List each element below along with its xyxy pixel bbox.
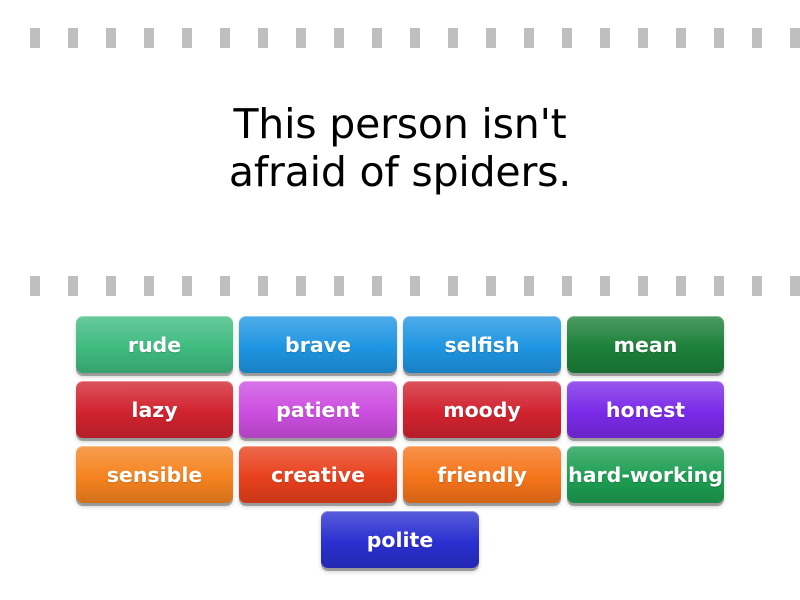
divider-dash xyxy=(30,276,40,296)
divider-dash xyxy=(448,28,458,48)
divider-dash xyxy=(410,28,420,48)
answer-tile-label: hard-working xyxy=(568,463,723,487)
divider-dash xyxy=(372,28,382,48)
divider-dash xyxy=(410,276,420,296)
divider-dash xyxy=(714,276,724,296)
answer-tile-label: lazy xyxy=(131,398,177,422)
divider-dash xyxy=(296,276,306,296)
answer-tile-polite[interactable]: polite xyxy=(321,511,479,568)
divider-dash xyxy=(562,276,572,296)
answer-tile-selfish[interactable]: selfish xyxy=(403,316,561,373)
divider-dash xyxy=(182,28,192,48)
answer-tile-label: selfish xyxy=(444,333,519,357)
divider-dash xyxy=(296,28,306,48)
answer-tile-mean[interactable]: mean xyxy=(567,316,724,373)
divider-dash xyxy=(258,28,268,48)
answer-tile-friendly[interactable]: friendly xyxy=(403,446,561,503)
divider-dash xyxy=(334,28,344,48)
divider-dash xyxy=(638,28,648,48)
answer-tile-label: brave xyxy=(285,333,351,357)
divider-dash xyxy=(106,28,116,48)
divider-dash xyxy=(30,28,40,48)
answer-tile-patient[interactable]: patient xyxy=(239,381,397,438)
divider-dash xyxy=(600,276,610,296)
divider-dash xyxy=(372,276,382,296)
answer-tile-sensible[interactable]: sensible xyxy=(76,446,233,503)
divider-dash xyxy=(144,28,154,48)
divider-dash xyxy=(676,28,686,48)
answer-tile-creative[interactable]: creative xyxy=(239,446,397,503)
divider-dash xyxy=(68,28,78,48)
answer-tile-lazy[interactable]: lazy xyxy=(76,381,233,438)
divider-dash xyxy=(524,276,534,296)
tile-row: polite xyxy=(76,511,724,568)
divider-dash xyxy=(752,276,762,296)
tile-row: rudebraveselfishmean xyxy=(76,316,724,373)
answer-tile-label: moody xyxy=(443,398,521,422)
answer-tile-label: creative xyxy=(271,463,365,487)
answer-tile-brave[interactable]: brave xyxy=(239,316,397,373)
prompt-container: This person isn't afraid of spiders. xyxy=(0,100,800,196)
answer-tile-hard-working[interactable]: hard-working xyxy=(567,446,724,503)
top-dashed-divider xyxy=(0,28,800,48)
divider-dash xyxy=(562,28,572,48)
answer-tile-honest[interactable]: honest xyxy=(567,381,724,438)
prompt-text: This person isn't afraid of spiders. xyxy=(0,100,800,196)
divider-dash xyxy=(144,276,154,296)
divider-dash xyxy=(714,28,724,48)
divider-dash xyxy=(182,276,192,296)
answer-tile-label: mean xyxy=(614,333,678,357)
quiz-board: This person isn't afraid of spiders. rud… xyxy=(0,0,800,600)
answer-tile-label: friendly xyxy=(437,463,527,487)
divider-dash xyxy=(220,276,230,296)
divider-dash xyxy=(258,276,268,296)
divider-dash xyxy=(524,28,534,48)
divider-dash xyxy=(106,276,116,296)
divider-dash xyxy=(486,276,496,296)
divider-dash xyxy=(676,276,686,296)
answer-tile-label: patient xyxy=(276,398,360,422)
answer-tile-grid: rudebraveselfishmeanlazypatientmoodyhone… xyxy=(76,316,724,568)
tile-row: sensiblecreativefriendlyhard-working xyxy=(76,446,724,503)
answer-tile-rude[interactable]: rude xyxy=(76,316,233,373)
divider-dash xyxy=(334,276,344,296)
answer-tile-label: rude xyxy=(128,333,181,357)
answer-tile-label: sensible xyxy=(107,463,203,487)
divider-dash xyxy=(752,28,762,48)
divider-dash xyxy=(790,276,800,296)
answer-tile-label: honest xyxy=(606,398,685,422)
divider-dash xyxy=(638,276,648,296)
divider-dash xyxy=(220,28,230,48)
divider-dash xyxy=(600,28,610,48)
divider-dash xyxy=(486,28,496,48)
answer-tile-moody[interactable]: moody xyxy=(403,381,561,438)
divider-dash xyxy=(68,276,78,296)
divider-dash xyxy=(448,276,458,296)
tile-row: lazypatientmoodyhonest xyxy=(76,381,724,438)
divider-dash xyxy=(790,28,800,48)
middle-dashed-divider xyxy=(0,276,800,296)
answer-tile-label: polite xyxy=(367,528,434,552)
